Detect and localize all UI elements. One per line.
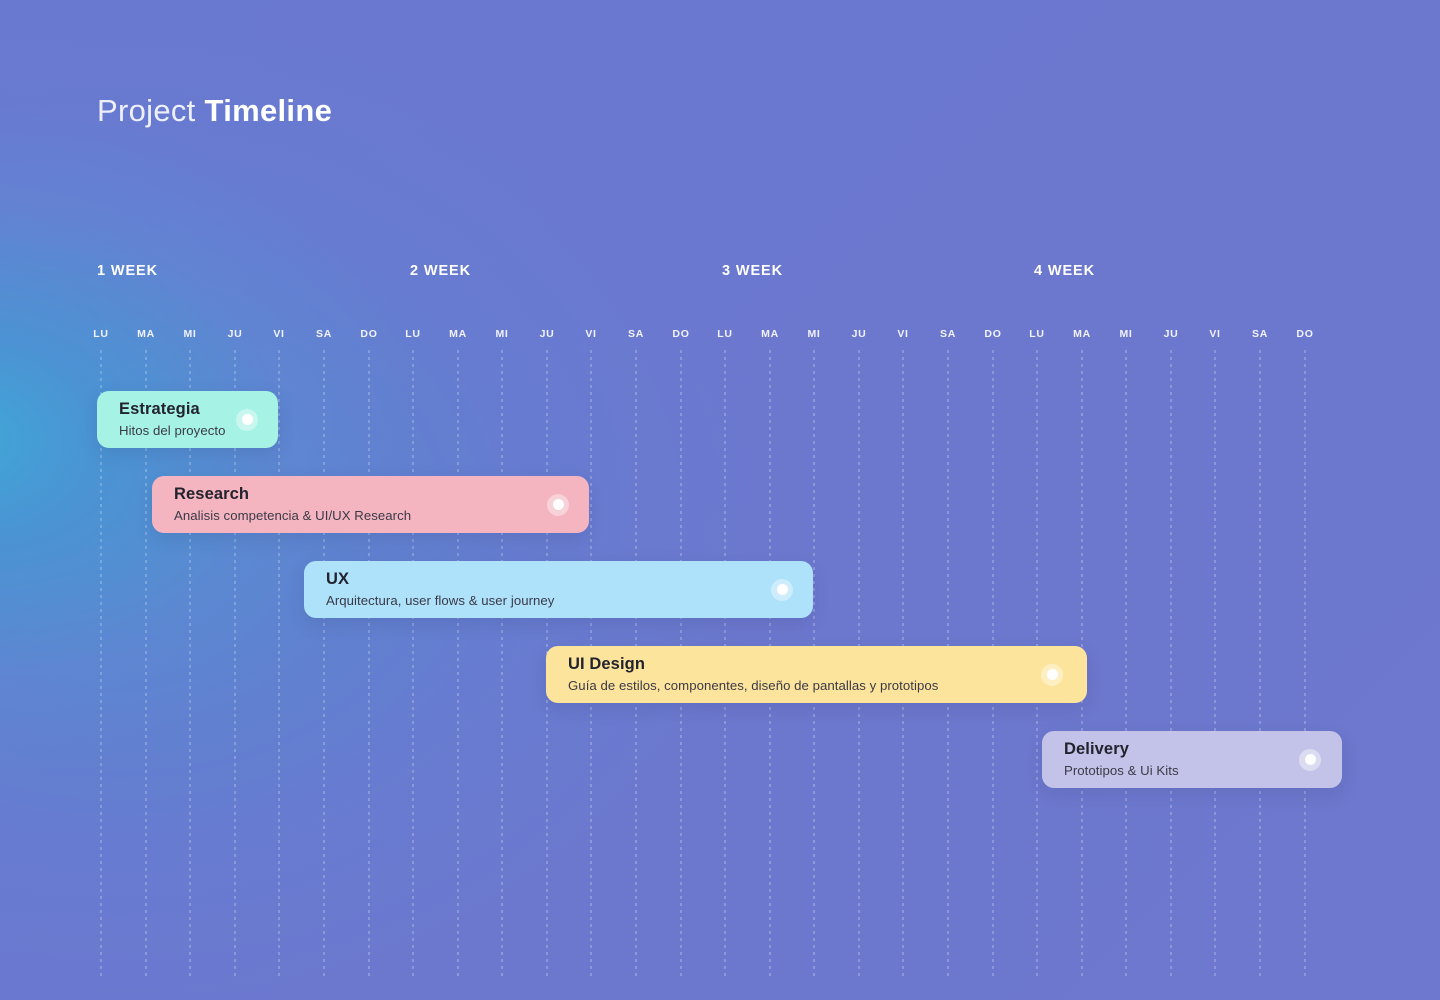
grid-line bbox=[1260, 350, 1261, 980]
day-label: SA bbox=[940, 328, 956, 340]
day-label: VI bbox=[273, 328, 284, 340]
task-bar[interactable]: EstrategiaHitos del proyecto bbox=[97, 391, 278, 448]
week-label-3: 3 WEEK bbox=[722, 263, 783, 279]
day-label: SA bbox=[1252, 328, 1268, 340]
page-title-light: Project bbox=[97, 93, 196, 128]
grid-line bbox=[1305, 350, 1306, 980]
day-label: MA bbox=[137, 328, 155, 340]
task-description: Prototipos & Ui Kits bbox=[1064, 762, 1296, 780]
task-milestone-dot-icon[interactable] bbox=[547, 494, 569, 516]
day-label: DO bbox=[360, 328, 377, 340]
day-label: MA bbox=[449, 328, 467, 340]
grid-line bbox=[279, 350, 280, 980]
task-title: Research bbox=[174, 484, 543, 505]
day-label: MI bbox=[807, 328, 820, 340]
day-label: JU bbox=[540, 328, 555, 340]
timeline-canvas: Project Timeline 1 WEEK2 WEEK3 WEEK4 WEE… bbox=[0, 0, 1440, 1000]
day-label: MI bbox=[1119, 328, 1132, 340]
task-description: Arquitectura, user flows & user journey bbox=[326, 592, 767, 610]
task-bar[interactable]: UXArquitectura, user flows & user journe… bbox=[304, 561, 813, 618]
day-label: MI bbox=[495, 328, 508, 340]
day-label: DO bbox=[1296, 328, 1313, 340]
day-label: VI bbox=[585, 328, 596, 340]
day-label: LU bbox=[1029, 328, 1044, 340]
task-title: Delivery bbox=[1064, 739, 1296, 760]
page-title-bold: Timeline bbox=[205, 93, 333, 128]
task-title: Estrategia bbox=[119, 399, 232, 420]
day-label: SA bbox=[316, 328, 332, 340]
task-bar[interactable]: UI DesignGuía de estilos, componentes, d… bbox=[546, 646, 1087, 703]
day-label: SA bbox=[628, 328, 644, 340]
day-label: VI bbox=[897, 328, 908, 340]
day-label: JU bbox=[228, 328, 243, 340]
week-label-4: 4 WEEK bbox=[1034, 263, 1095, 279]
day-label: LU bbox=[405, 328, 420, 340]
grid-line bbox=[502, 350, 503, 980]
day-label: DO bbox=[672, 328, 689, 340]
page-title: Project Timeline bbox=[97, 93, 332, 129]
day-label: MA bbox=[761, 328, 779, 340]
task-bar[interactable]: DeliveryPrototipos & Ui Kits bbox=[1042, 731, 1342, 788]
day-label: JU bbox=[852, 328, 867, 340]
day-label: VI bbox=[1209, 328, 1220, 340]
grid-line bbox=[1126, 350, 1127, 980]
task-milestone-dot-icon[interactable] bbox=[1041, 664, 1063, 686]
day-label: DO bbox=[984, 328, 1001, 340]
grid-line bbox=[1215, 350, 1216, 980]
task-description: Hitos del proyecto bbox=[119, 422, 232, 440]
week-label-1: 1 WEEK bbox=[97, 263, 158, 279]
task-title: UX bbox=[326, 569, 767, 590]
task-description: Analisis competencia & UI/UX Research bbox=[174, 507, 543, 525]
task-milestone-dot-icon[interactable] bbox=[771, 579, 793, 601]
day-label: LU bbox=[717, 328, 732, 340]
grid-line bbox=[458, 350, 459, 980]
grid-line bbox=[324, 350, 325, 980]
day-label: MI bbox=[183, 328, 196, 340]
day-label: JU bbox=[1164, 328, 1179, 340]
task-milestone-dot-icon[interactable] bbox=[236, 409, 258, 431]
week-label-2: 2 WEEK bbox=[410, 263, 471, 279]
day-label: MA bbox=[1073, 328, 1091, 340]
grid-line bbox=[1171, 350, 1172, 980]
task-title: UI Design bbox=[568, 654, 1041, 675]
task-bar[interactable]: ResearchAnalisis competencia & UI/UX Res… bbox=[152, 476, 589, 533]
day-label: LU bbox=[93, 328, 108, 340]
grid-line bbox=[369, 350, 370, 980]
grid-line bbox=[413, 350, 414, 980]
task-milestone-dot-icon[interactable] bbox=[1299, 749, 1321, 771]
task-description: Guía de estilos, componentes, diseño de … bbox=[568, 677, 1041, 695]
